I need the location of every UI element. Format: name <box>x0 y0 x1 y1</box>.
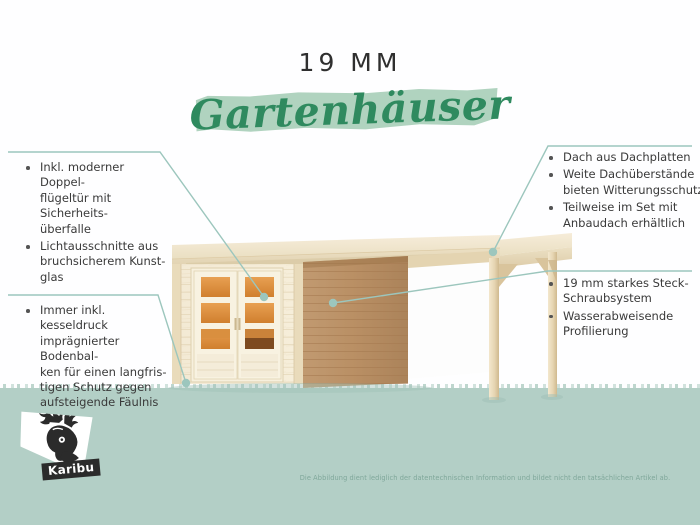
list-item: Weite Dachüberstände bieten Witterungssc… <box>545 167 700 198</box>
list-item: 19 mm starkes Steck- Schraubsystem <box>545 276 700 307</box>
list-item: Wasserabweisende Profilierung <box>545 309 700 340</box>
callout-top-left: Inkl. moderner Doppel- flügeltür mit Sic… <box>22 160 172 287</box>
callout-dot-roof <box>489 248 497 256</box>
brand-name: Karibu <box>41 458 101 480</box>
product-title-wrap: Gartenhäuser <box>0 86 700 138</box>
list-item: Lichtausschnitte aus bruchsicherem Kunst… <box>22 239 172 285</box>
list-item: Teilweise im Set mit Anbaudach erhältlic… <box>545 200 700 231</box>
disclaimer-text: Die Abbildung dient lediglich der datent… <box>280 474 690 483</box>
callout-bottom-right: 19 mm starkes Steck- Schraubsystem Wasse… <box>545 276 700 342</box>
product-infographic: 19 MM Gartenhäuser Inkl. moderner Doppel… <box>0 0 700 525</box>
brand-logo: Karibu <box>20 405 112 493</box>
callout-bottom-left: Immer inkl. kesseldruck imprägnierter Bo… <box>22 303 172 413</box>
list-item: Dach aus Dachplatten <box>545 150 700 165</box>
callout-dot-door <box>260 293 268 301</box>
callout-dot-base <box>182 379 190 387</box>
callout-top-right: Dach aus Dachplatten Weite Dachüberständ… <box>545 150 700 233</box>
list-item: Inkl. moderner Doppel- flügeltür mit Sic… <box>22 160 172 237</box>
list-item: Immer inkl. kesseldruck imprägnierter Bo… <box>22 303 172 411</box>
callout-dot-wall <box>329 299 337 307</box>
thickness-title: 19 MM <box>0 48 700 77</box>
